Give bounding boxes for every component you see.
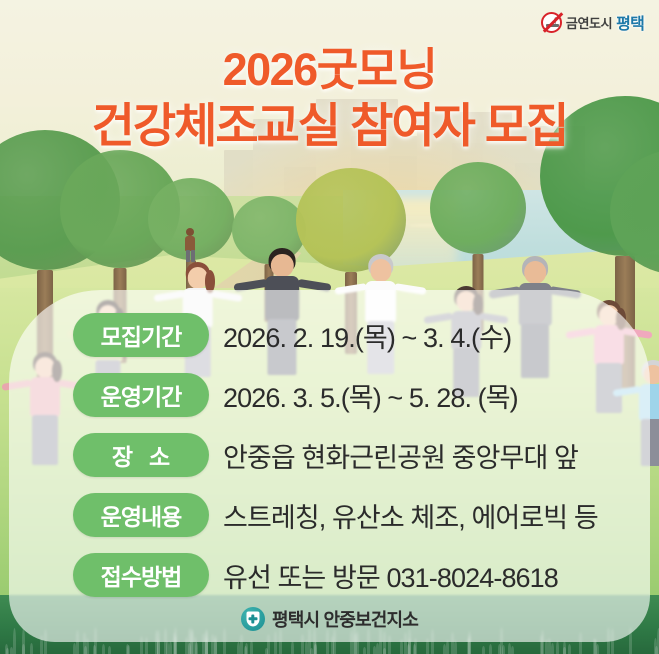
info-row: 운영기간2026. 3. 5.(목) ~ 5. 28. (목) bbox=[21, 370, 638, 420]
grass-blade bbox=[655, 646, 658, 654]
poster: 금연도시 평택 2026굿모닝 건강체조교실 참여자 모집 모집기간2026. … bbox=[0, 0, 659, 654]
person-head bbox=[370, 259, 391, 281]
grass-blade bbox=[508, 643, 511, 654]
grass-blade bbox=[563, 647, 566, 654]
grass-blade bbox=[454, 640, 457, 654]
grass-blade bbox=[245, 643, 248, 654]
footer: 평택시 안중보건지소 bbox=[0, 606, 659, 632]
info-row-label-badge: 모집기간 bbox=[73, 313, 209, 357]
grass-blade bbox=[195, 642, 198, 654]
grass-blade bbox=[127, 645, 130, 654]
tree-canopy bbox=[610, 150, 659, 274]
grass-blade bbox=[596, 644, 599, 654]
grass-blade bbox=[102, 644, 105, 654]
grass-blade bbox=[30, 643, 33, 654]
info-row-list: 모집기간2026. 2. 19.(목) ~ 3. 4.(수)운영기간2026. … bbox=[9, 310, 650, 600]
grass-blade bbox=[556, 641, 559, 654]
poster-title: 2026굿모닝 건강체조교실 참여자 모집 bbox=[0, 46, 659, 151]
info-row: 운영내용스트레칭, 유산소 체조, 에어로빅 등 bbox=[21, 490, 638, 540]
grass-blade bbox=[502, 645, 505, 654]
grass-blade bbox=[551, 643, 554, 654]
grass-blade bbox=[108, 646, 111, 654]
health-center-icon bbox=[241, 607, 265, 631]
city-name-label: 평택 bbox=[616, 10, 644, 34]
title-line-2: 건강체조교실 참여자 모집 bbox=[0, 101, 659, 152]
grass-blade bbox=[363, 647, 366, 654]
info-row-label-badge: 장소 bbox=[73, 433, 209, 477]
info-row-value: 스트레칭, 유산소 체조, 에어로빅 등 bbox=[223, 496, 598, 535]
info-panel: 모집기간2026. 2. 19.(목) ~ 3. 4.(수)운영기간2026. … bbox=[9, 290, 650, 642]
info-row-label-badge: 운영내용 bbox=[73, 493, 209, 537]
smoke-free-city-logo: 금연도시 평택 bbox=[536, 8, 649, 36]
grass-blade bbox=[498, 644, 501, 654]
grass-blade bbox=[6, 648, 9, 654]
grass-blade bbox=[568, 644, 571, 654]
grass-blade bbox=[482, 646, 485, 654]
grass-blade bbox=[443, 644, 446, 654]
tree-canopy bbox=[430, 162, 526, 254]
info-row-value: 2026. 3. 5.(목) ~ 5. 28. (목) bbox=[223, 376, 518, 415]
grass-blade bbox=[291, 641, 294, 654]
info-row: 모집기간2026. 2. 19.(목) ~ 3. 4.(수) bbox=[21, 310, 638, 360]
grass-blade bbox=[511, 646, 514, 654]
grass-blade bbox=[489, 644, 492, 654]
jogger-figure bbox=[183, 228, 197, 262]
info-row-value: 유선 또는 방문 031-8024-8618 bbox=[223, 556, 558, 595]
grass-blade bbox=[250, 640, 253, 654]
info-row-value: 안중읍 현화근린공원 중앙무대 앞 bbox=[223, 436, 578, 475]
info-row-label-badge: 운영기간 bbox=[73, 373, 209, 417]
grass-blade bbox=[73, 643, 76, 654]
info-row: 장소안중읍 현화근린공원 중앙무대 앞 bbox=[21, 430, 638, 480]
person-head bbox=[524, 261, 546, 284]
title-line-1: 2026굿모닝 bbox=[0, 46, 659, 95]
grass-blade bbox=[237, 642, 240, 654]
person-head bbox=[271, 254, 293, 278]
smoke-free-label: 금연도시 bbox=[566, 13, 612, 32]
grass-blade bbox=[314, 641, 317, 654]
info-row: 접수방법유선 또는 방문 031-8024-8618 bbox=[21, 550, 638, 600]
grass-blade bbox=[13, 628, 16, 654]
footer-organization-label: 평택시 안중보건지소 bbox=[272, 606, 418, 632]
grass-blade bbox=[169, 641, 172, 654]
grass-blade bbox=[446, 640, 449, 654]
grass-blade bbox=[310, 648, 313, 654]
info-row-label-badge: 접수방법 bbox=[73, 553, 209, 597]
no-smoking-icon bbox=[541, 12, 562, 33]
info-row-value: 2026. 2. 19.(목) ~ 3. 4.(수) bbox=[223, 316, 511, 355]
